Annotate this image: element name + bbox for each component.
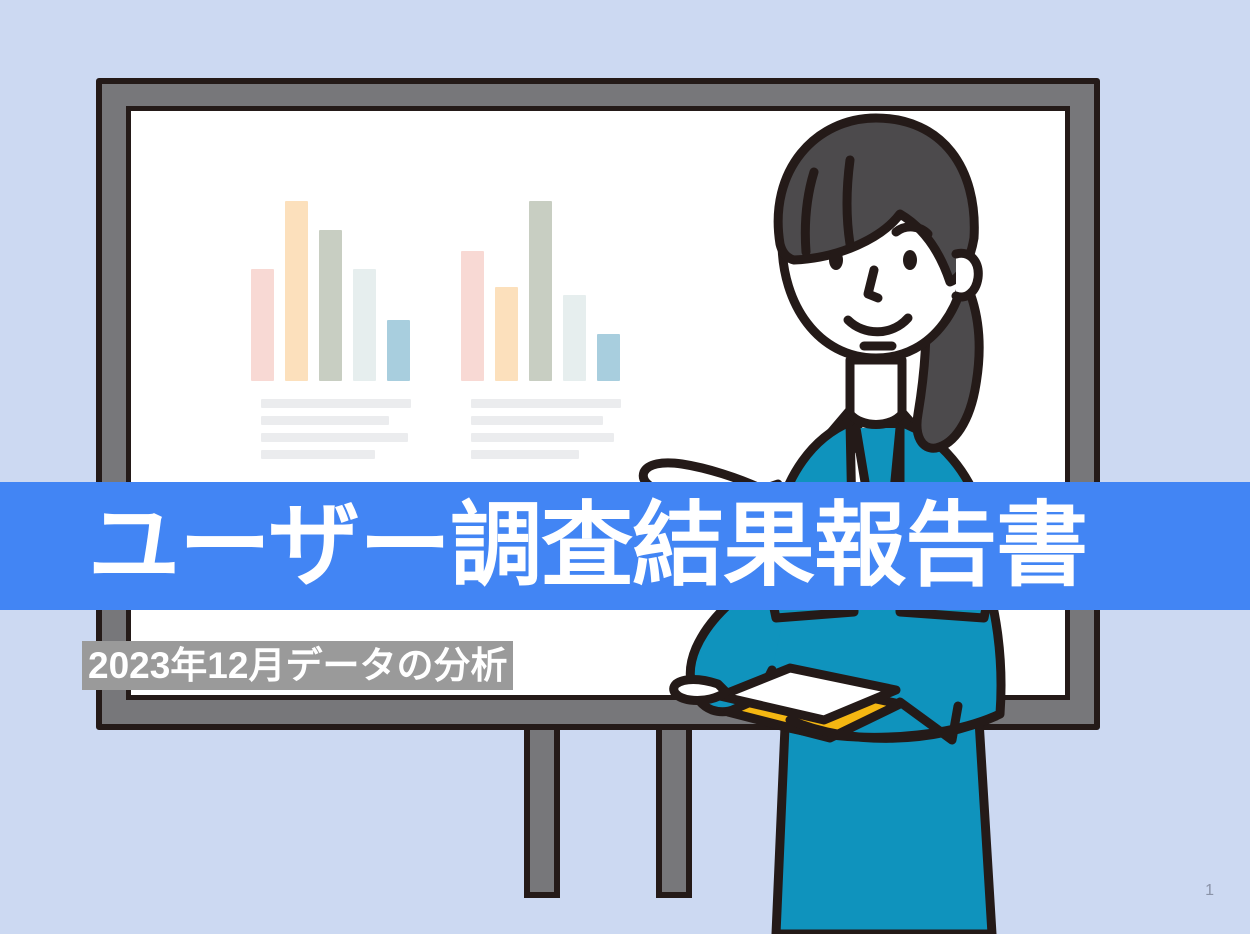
bar bbox=[563, 295, 586, 381]
bar bbox=[529, 201, 552, 381]
placeholder-line bbox=[261, 433, 408, 442]
title-slide: ユーザー調査結果報告書 2023年12月データの分析 1 bbox=[0, 0, 1250, 934]
board-bar-chart-right bbox=[461, 201, 620, 381]
placeholder-text-block-right bbox=[471, 399, 621, 467]
whiteboard-leg-left bbox=[524, 730, 560, 898]
bar bbox=[319, 230, 342, 381]
placeholder-line bbox=[261, 416, 389, 425]
placeholder-line bbox=[471, 450, 579, 459]
page-number: 1 bbox=[1205, 882, 1214, 900]
placeholder-line bbox=[471, 416, 603, 425]
bar bbox=[251, 269, 274, 381]
placeholder-line bbox=[471, 399, 621, 408]
bar bbox=[495, 287, 518, 381]
board-bar-chart-left bbox=[251, 201, 410, 381]
bar bbox=[387, 320, 410, 381]
placeholder-line bbox=[261, 399, 411, 408]
subtitle-band: 2023年12月データの分析 bbox=[82, 641, 513, 690]
placeholder-text-block-left bbox=[261, 399, 411, 467]
slide-title: ユーザー調査結果報告書 bbox=[88, 500, 1087, 592]
placeholder-line bbox=[261, 450, 375, 459]
bar bbox=[461, 251, 484, 381]
slide-subtitle: 2023年12月データの分析 bbox=[88, 647, 507, 684]
bar bbox=[285, 201, 308, 381]
placeholder-line bbox=[471, 433, 614, 442]
bar bbox=[353, 269, 376, 381]
title-banner: ユーザー調査結果報告書 bbox=[0, 482, 1250, 610]
